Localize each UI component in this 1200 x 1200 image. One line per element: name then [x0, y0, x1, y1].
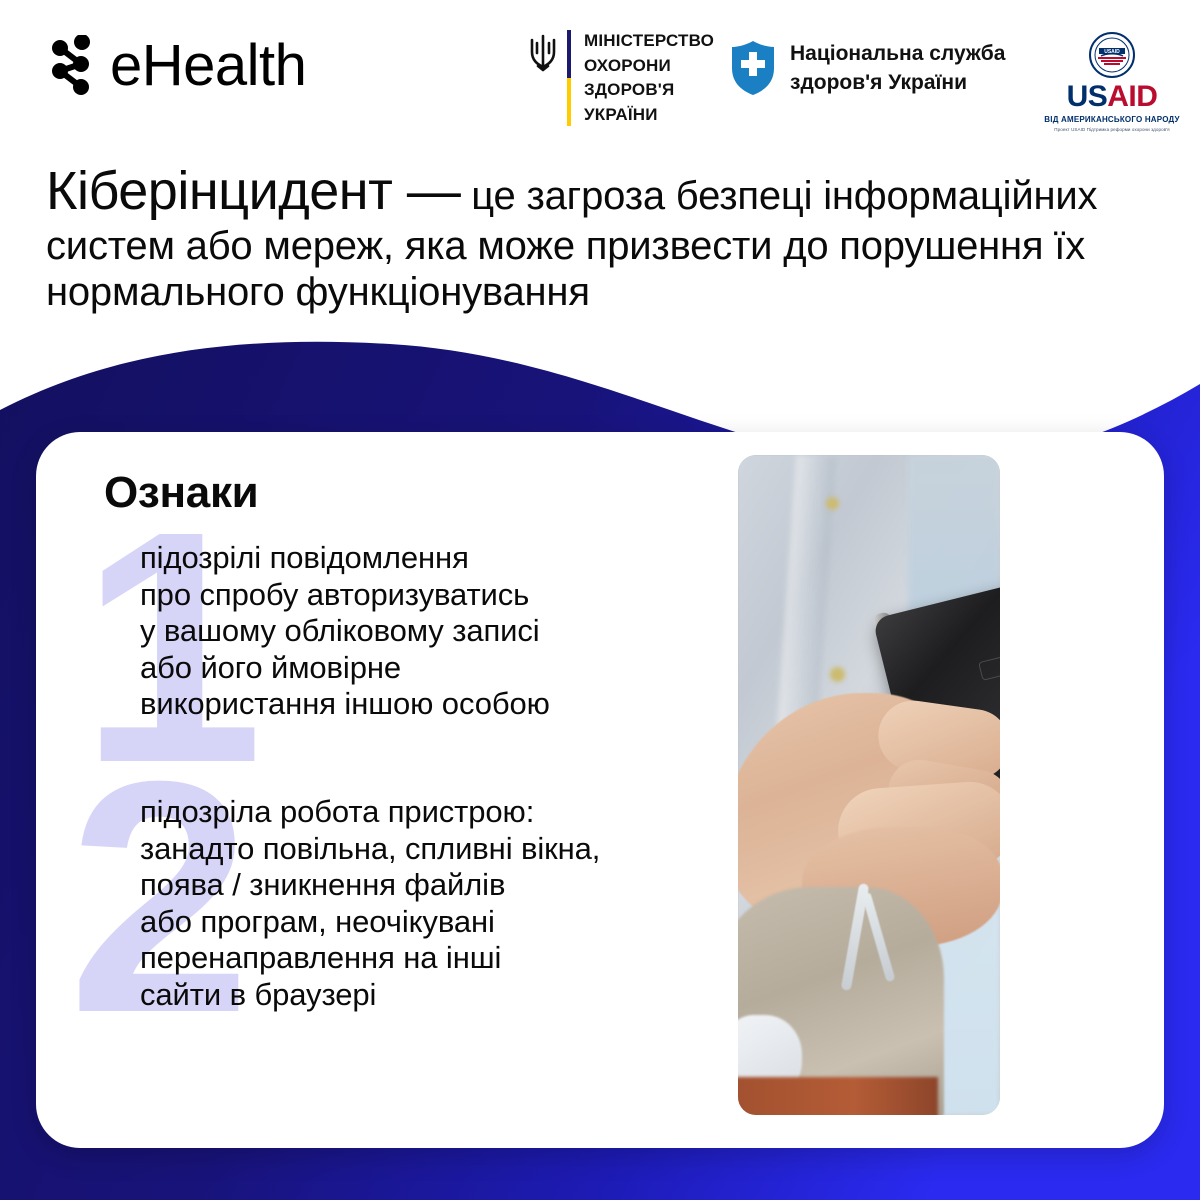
ehealth-nodes-icon — [50, 35, 92, 97]
item-text: підозріла робота пристрою: занадто повіл… — [140, 794, 698, 1013]
moz-line-2: ОХОРОНИ — [584, 55, 714, 78]
ukraine-trident-icon — [528, 34, 558, 74]
nszu-line-1: Національна служба — [790, 41, 1005, 67]
moz-logo[interactable]: МІНІСТЕРСТВО ОХОРОНИ ЗДОРОВ'Я УКРАЇНИ — [528, 30, 714, 126]
hands-holding-smartphone-photo — [738, 455, 1000, 1115]
usaid-wordmark: USAID — [1042, 82, 1182, 112]
ehealth-logo[interactable]: eHealth — [50, 35, 306, 97]
headline-emphasis: Кіберінцидент — — [46, 161, 460, 221]
usaid-seal-icon: USAID — [1089, 32, 1135, 78]
flag-divider — [567, 30, 571, 126]
item-text: підозрілі повідомлення про спробу автори… — [140, 540, 698, 723]
page-title: Кіберінцидент — це загроза безпеці інфор… — [46, 160, 1186, 315]
nszu-logo[interactable]: Національна служба здоров'я України — [730, 40, 1005, 96]
logo-header: eHealth МІНІСТЕРСТВО ОХОРОНИ ЗДОРОВ'Я УК… — [0, 0, 1200, 150]
list-item: 2 підозріла робота пристрою: занадто пов… — [58, 794, 698, 1024]
usaid-us-text: US — [1067, 80, 1108, 113]
shield-cross-icon — [730, 40, 776, 96]
moz-line-4: УКРАЇНИ — [584, 104, 714, 127]
poster-canvas: eHealth МІНІСТЕРСТВО ОХОРОНИ ЗДОРОВ'Я УК… — [0, 0, 1200, 1200]
photo-shirt-button — [826, 497, 839, 510]
usaid-tagline: ВІД АМЕРИКАНСЬКОГО НАРОДУ — [1042, 115, 1182, 124]
nszu-line-2: здоров'я України — [790, 70, 1005, 96]
moz-line-1: МІНІСТЕРСТВО — [584, 30, 714, 53]
signs-list: 1 підозрілі повідомлення про спробу авто… — [58, 540, 698, 1024]
ehealth-wordmark: eHealth — [110, 37, 306, 95]
nszu-text-block: Національна служба здоров'я України — [790, 41, 1005, 95]
photo-belt — [738, 1077, 938, 1115]
usaid-aid-text: AID — [1107, 80, 1157, 113]
moz-line-3: ЗДОРОВ'Я — [584, 79, 714, 102]
signs-card: Ознаки 1 підозрілі повідомлення про спро… — [36, 432, 1164, 1148]
photo-shirt-button — [830, 667, 845, 682]
usaid-logo[interactable]: USAID USAID ВІД АМЕРИКАНСЬКОГО НАРОДУ Пр… — [1042, 32, 1182, 132]
usaid-project-line: Проект USAID Підтримка реформи охорони з… — [1042, 127, 1182, 132]
moz-text-block: МІНІСТЕРСТВО ОХОРОНИ ЗДОРОВ'Я УКРАЇНИ — [584, 30, 714, 126]
